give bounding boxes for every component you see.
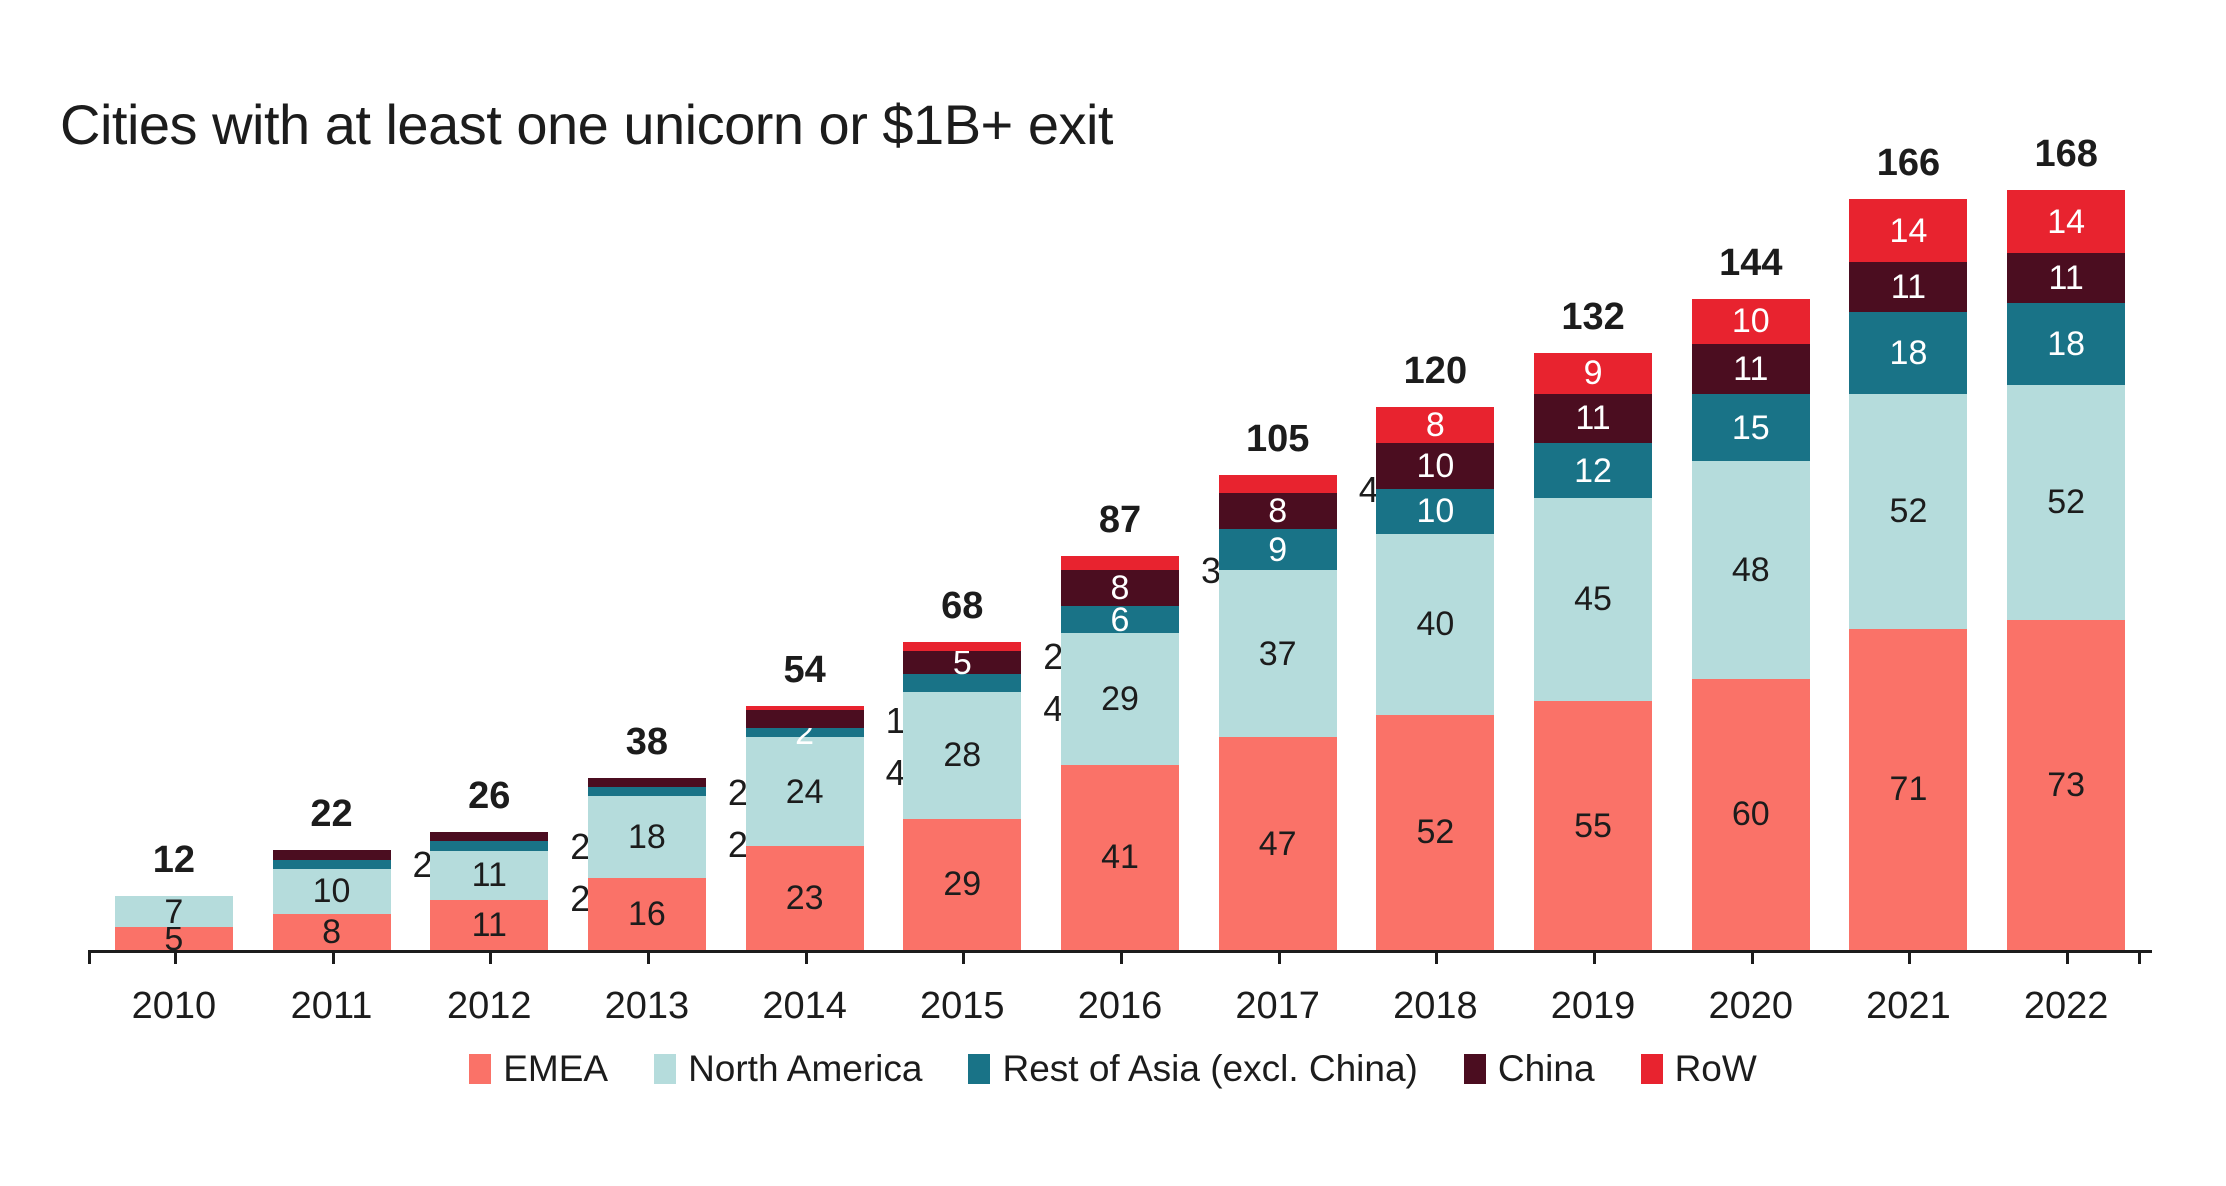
bar-segment[interactable]: 37 [1219,570,1337,737]
segment-value-label: 6 [1111,603,1130,637]
bar-segment[interactable]: 6 [1061,606,1179,633]
legend-label: Rest of Asia (excl. China) [1002,1048,1417,1090]
x-axis-end-cap [2138,950,2141,964]
bar-group-2011[interactable]: 81022 [273,850,391,950]
bar-segment[interactable]: 10 [273,869,391,914]
segment-value-label: 7 [164,895,183,929]
bar-segment[interactable]: 24 [746,737,864,846]
x-axis-label-2021: 2021 [1828,985,1988,1028]
segment-value-label: 8 [1268,494,1287,528]
plot-area: 5712810222111126221618382223242541429285… [95,190,2145,950]
bar-segment[interactable]: 8 [1219,493,1337,529]
bar-segment[interactable]: 2 [746,728,864,737]
segment-value-label: 8 [322,915,341,949]
x-axis-label-2013: 2013 [567,985,727,1028]
bar-total-label: 68 [903,585,1021,628]
bar-segment[interactable]: 71 [1849,629,1967,950]
bar-group-2020[interactable]: 6048151110144 [1692,299,1810,950]
bar-segment[interactable]: 11 [1534,394,1652,444]
bar-segment[interactable]: 10 [1376,489,1494,534]
bar-total-label: 105 [1219,418,1337,461]
bar-segment[interactable] [903,642,1021,651]
x-axis-tick [1751,950,1754,964]
bar-group-2018[interactable]: 524010108120 [1376,407,1494,950]
bar-segment[interactable]: 52 [2007,385,2125,620]
segment-value-label: 14 [1890,214,1928,248]
bar-total-label: 168 [2007,133,2125,176]
x-axis-label-2019: 2019 [1513,985,1673,1028]
bar-segment[interactable]: 11 [430,900,548,950]
bar-total-label: 166 [1849,142,1967,185]
bar-group-2019[interactable]: 554512119132 [1534,353,1652,950]
legend-swatch-icon [469,1054,491,1084]
segment-value-label: 9 [1268,533,1287,567]
legend-item-0[interactable]: EMEA [469,1048,608,1090]
x-axis-label-2015: 2015 [882,985,1042,1028]
bar-segment[interactable]: 11 [2007,253,2125,303]
segment-value-label: 40 [1416,607,1454,641]
bar-group-2016[interactable]: 41296887 [1061,556,1179,950]
x-axis-label-2012: 2012 [409,985,569,1028]
legend-label: China [1498,1048,1595,1090]
segment-value-label: 73 [2047,768,2085,802]
segment-value-label: 52 [2047,485,2085,519]
bar-segment[interactable]: 41 [1061,765,1179,950]
bar-segment[interactable]: 5 [903,651,1021,674]
bar-segment[interactable]: 14 [2007,190,2125,253]
x-axis-label-2018: 2018 [1355,985,1515,1028]
bar-segment[interactable]: 11 [430,851,548,901]
bar-total-label: 120 [1376,350,1494,393]
x-axis-tick [174,950,177,964]
bar-segment[interactable] [588,787,706,796]
bar-segment[interactable]: 52 [1849,394,1967,629]
bar-total-label: 22 [273,793,391,836]
segment-value-label: 47 [1259,827,1297,861]
bar-segment[interactable]: 47 [1219,737,1337,950]
x-axis-tick [962,950,965,964]
segment-value-label: 10 [1416,494,1454,528]
bar-segment[interactable]: 28 [903,692,1021,819]
bar-group-2014[interactable]: 2324254 [746,706,864,950]
bar-segment[interactable]: 55 [1534,701,1652,950]
chart-title: Cities with at least one unicorn or $1B+… [60,92,1113,157]
segment-value-label: 18 [2047,327,2085,361]
bar-group-2012[interactable]: 111126 [430,832,548,950]
bar-total-label: 144 [1692,242,1810,285]
chart-legend: EMEANorth AmericaRest of Asia (excl. Chi… [0,1048,2226,1090]
segment-value-label: 11 [1733,352,1768,386]
legend-swatch-icon [654,1054,676,1084]
segment-value-label: 10 [1416,449,1454,483]
segment-value-label: 24 [786,775,824,809]
x-axis-label-2011: 2011 [252,985,412,1028]
segment-value-label: 60 [1732,797,1770,831]
segment-value-label: 48 [1732,553,1770,587]
segment-value-label: 10 [1732,304,1770,338]
bar-segment[interactable]: 12 [1534,443,1652,497]
bar-segment[interactable]: 29 [1061,633,1179,764]
x-axis-tick [1120,950,1123,964]
legend-item-2[interactable]: Rest of Asia (excl. China) [968,1048,1417,1090]
bar-segment[interactable]: 18 [2007,303,2125,384]
segment-value-label: 12 [1574,454,1612,488]
legend-item-4[interactable]: RoW [1641,1048,1757,1090]
bar-total-label: 38 [588,721,706,764]
segment-value-label: 14 [2047,205,2085,239]
bar-segment[interactable]: 8 [1376,407,1494,443]
segment-value-label: 28 [943,738,981,772]
bar-segment[interactable]: 73 [2007,620,2125,950]
bar-segment[interactable]: 48 [1692,461,1810,678]
x-axis-label-2022: 2022 [1986,985,2146,1028]
segment-value-label: 71 [1890,772,1928,806]
bar-segment[interactable]: 18 [1849,312,1967,393]
bar-segment[interactable]: 29 [903,819,1021,950]
legend-swatch-icon [1464,1054,1486,1084]
segment-value-label: 11 [472,908,507,942]
bar-group-2017[interactable]: 473798105 [1219,475,1337,950]
bar-segment[interactable]: 11 [1692,344,1810,394]
bar-total-label: 26 [430,775,548,818]
segment-value-label: 52 [1890,494,1928,528]
segment-value-label: 29 [1101,682,1139,716]
x-axis-tick [647,950,650,964]
segment-value-label: 55 [1574,809,1612,843]
bar-segment[interactable] [273,850,391,859]
legend-swatch-icon [1641,1054,1663,1084]
x-axis-tick [1435,950,1438,964]
legend-label: EMEA [503,1048,608,1090]
bar-segment[interactable]: 5 [115,927,233,950]
segment-value-label: 10 [313,874,351,908]
x-axis-tick [1278,950,1281,964]
segment-value-label: 16 [628,897,666,931]
bar-segment[interactable]: 8 [273,914,391,950]
segment-value-label: 11 [472,858,507,892]
x-axis-label-2016: 2016 [1040,985,1200,1028]
bar-segment[interactable]: 8 [1061,570,1179,606]
bar-segment[interactable]: 52 [1376,715,1494,950]
legend-item-1[interactable]: North America [654,1048,922,1090]
bar-segment[interactable] [588,778,706,787]
segment-value-label: 9 [1584,356,1603,390]
bar-group-2013[interactable]: 161838 [588,778,706,950]
bar-segment[interactable]: 10 [1692,299,1810,344]
x-axis-label-2010: 2010 [94,985,254,1028]
x-axis-tick [805,950,808,964]
x-axis-tick [2066,950,2069,964]
bar-segment[interactable]: 10 [1376,443,1494,488]
segment-value-label: 18 [628,820,666,854]
bar-segment[interactable]: 15 [1692,394,1810,462]
bar-segment[interactable] [273,860,391,869]
bar-segment[interactable]: 40 [1376,534,1494,715]
legend-label: North America [688,1048,922,1090]
x-axis-tick [1593,950,1596,964]
segment-value-label: 37 [1259,637,1297,671]
bar-segment[interactable]: 14 [1849,199,1967,262]
bar-segment[interactable]: 18 [588,796,706,877]
x-axis-label-2014: 2014 [725,985,885,1028]
bar-segment[interactable] [746,706,864,711]
segment-value-label: 23 [786,881,824,915]
bar-segment[interactable]: 45 [1534,498,1652,702]
bar-group-2021[interactable]: 7152181114166 [1849,199,1967,950]
x-axis-tick [489,950,492,964]
segment-value-label: 11 [2048,261,2083,295]
segment-value-label: 45 [1574,582,1612,616]
bar-segment[interactable]: 9 [1219,529,1337,570]
bar-segment[interactable]: 11 [1849,262,1967,312]
segment-value-label: 8 [1426,408,1445,442]
x-axis-end-cap [88,950,91,964]
bar-total-label: 132 [1534,296,1652,339]
bar-group-2010[interactable]: 5712 [115,896,233,950]
x-axis-label-2020: 2020 [1671,985,1831,1028]
bar-segment[interactable]: 60 [1692,679,1810,950]
segment-value-label: 8 [1111,571,1130,605]
legend-swatch-icon [968,1054,990,1084]
legend-label: RoW [1675,1048,1757,1090]
x-axis-tick [332,950,335,964]
bar-segment[interactable] [430,841,548,850]
bar-segment[interactable] [1061,556,1179,570]
bar-segment[interactable]: 16 [588,878,706,950]
bar-segment[interactable] [746,710,864,728]
segment-value-label: 15 [1732,411,1770,445]
bar-total-label: 12 [115,839,233,882]
bar-segment[interactable]: 9 [1534,353,1652,394]
bar-group-2022[interactable]: 7352181114168 [2007,190,2125,950]
bar-segment[interactable] [903,674,1021,692]
x-axis-label-2017: 2017 [1198,985,1358,1028]
segment-value-label: 29 [943,867,981,901]
bar-segment[interactable] [1219,475,1337,493]
chart-root: Cities with at least one unicorn or $1B+… [0,0,2226,1186]
segment-value-label: 11 [1891,270,1926,304]
segment-value-label: 52 [1416,815,1454,849]
bar-total-label: 54 [746,649,864,692]
bar-segment[interactable]: 7 [115,896,233,928]
bar-total-label: 87 [1061,499,1179,542]
segment-value-label: 11 [1575,401,1610,435]
x-axis-tick [1908,950,1911,964]
segment-value-label: 41 [1101,840,1139,874]
legend-item-3[interactable]: China [1464,1048,1595,1090]
bar-segment[interactable] [430,832,548,841]
bar-group-2015[interactable]: 2928568 [903,642,1021,950]
segment-value-label: 18 [1890,336,1928,370]
bar-segment[interactable]: 23 [746,846,864,950]
